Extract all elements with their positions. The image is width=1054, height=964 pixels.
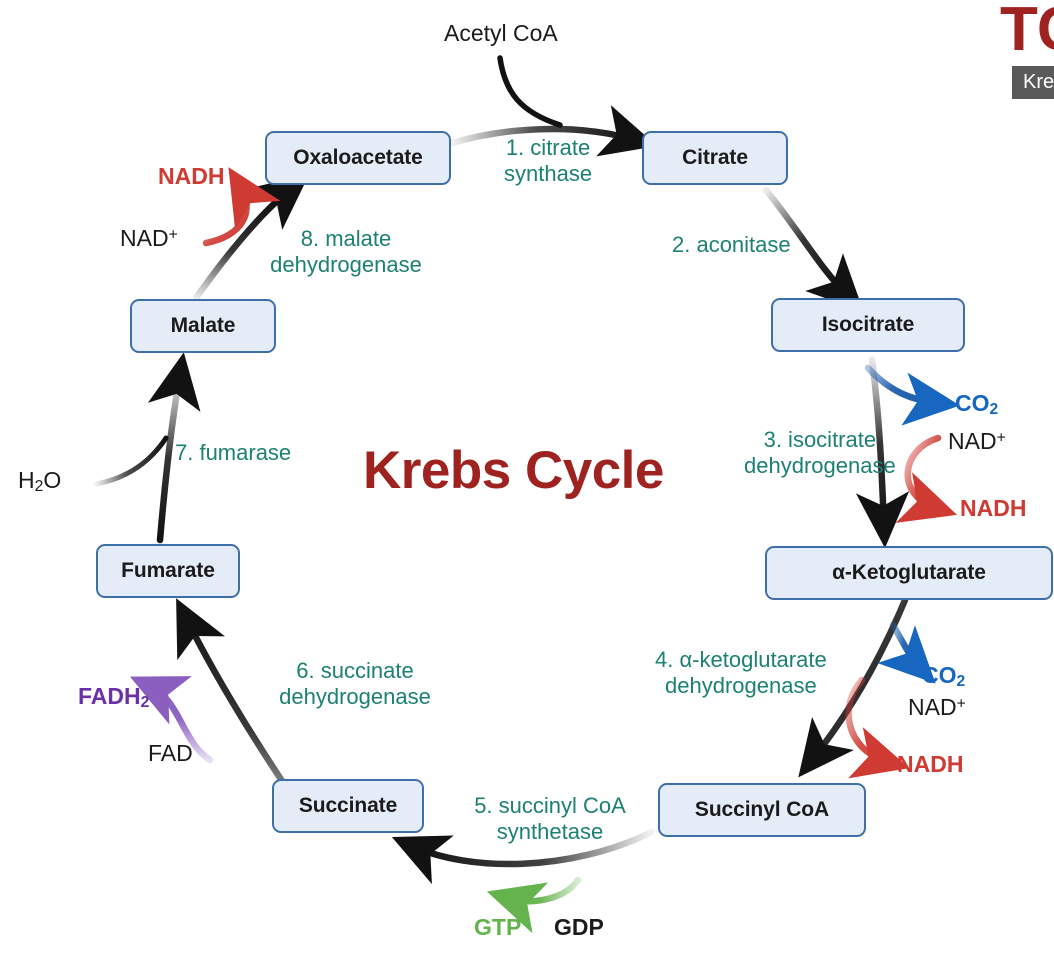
- enzyme-line-1: 3. isocitrate: [744, 427, 896, 453]
- cofactor-gdp: GDP: [554, 914, 604, 941]
- cofactor-co2-step4: CO2: [922, 662, 965, 692]
- enzyme-label-4: 4. α-ketoglutarate dehydrogenase: [655, 647, 827, 699]
- enzyme-line-2: dehydrogenase: [744, 453, 896, 479]
- enzyme-line-1: 2. aconitase: [672, 232, 791, 258]
- cofactor-fad: FAD: [148, 740, 193, 767]
- metabolite-alpha-ketoglutarate[interactable]: α-Ketoglutarate: [765, 546, 1053, 600]
- enzyme-label-7: 7. fumarase: [175, 440, 291, 466]
- enzyme-line-1: 5. succinyl CoA: [462, 793, 638, 819]
- metabolite-citrate[interactable]: Citrate: [642, 131, 788, 185]
- enzyme-label-1: 1. citrate synthase: [504, 135, 592, 187]
- metabolite-isocitrate[interactable]: Isocitrate: [771, 298, 965, 352]
- cofactor-nadh-step4: NADH: [897, 751, 963, 778]
- enzyme-line-2: dehydrogenase: [256, 252, 436, 278]
- cofactor-nadh-step8: NADH: [158, 163, 224, 190]
- metabolite-oxaloacetate[interactable]: Oxaloacetate: [265, 131, 451, 185]
- enzyme-line-1: 6. succinate: [262, 658, 448, 684]
- enzyme-label-2: 2. aconitase: [672, 232, 791, 258]
- enzyme-line-2: synthetase: [462, 819, 638, 845]
- enzyme-line-1: 4. α-ketoglutarate: [655, 647, 827, 673]
- corner-title-fragment: TC: [1000, 0, 1054, 65]
- metabolite-label: Succinate: [299, 794, 397, 818]
- cofactor-nad-plus-step4: NAD+: [908, 694, 966, 721]
- enzyme-label-8: 8. malate dehydrogenase: [256, 226, 436, 278]
- metabolite-fumarate[interactable]: Fumarate: [96, 544, 240, 598]
- metabolite-label: Fumarate: [121, 559, 215, 583]
- cofactor-water: H2O: [18, 467, 61, 497]
- enzyme-label-3: 3. isocitrate dehydrogenase: [744, 427, 896, 479]
- enzyme-label-6: 6. succinate dehydrogenase: [262, 658, 448, 710]
- metabolite-label: Oxaloacetate: [293, 146, 423, 170]
- enzyme-line-2: synthase: [504, 161, 592, 187]
- enzyme-line-1: 1. citrate: [504, 135, 592, 161]
- enzyme-line-1: 8. malate: [256, 226, 436, 252]
- krebs-cycle-diagram: Oxaloacetate Citrate Isocitrate α-Ketogl…: [0, 0, 1054, 964]
- cofactor-nad-plus-step8: NAD+: [120, 225, 178, 252]
- cofactor-gtp: GTP: [474, 914, 521, 941]
- metabolite-label: Citrate: [682, 146, 748, 170]
- metabolite-label: Succinyl CoA: [695, 798, 829, 822]
- input-acetyl-coa-label: Acetyl CoA: [444, 20, 558, 47]
- metabolite-label: α-Ketoglutarate: [832, 561, 986, 585]
- enzyme-line-2: dehydrogenase: [262, 684, 448, 710]
- tooltip-label: Krebs: [1012, 66, 1054, 99]
- metabolite-label: Isocitrate: [822, 313, 914, 337]
- cofactor-co2-step3: CO2: [955, 390, 998, 420]
- enzyme-line-2: dehydrogenase: [655, 673, 827, 699]
- cofactor-nad-plus-step3: NAD+: [948, 428, 1006, 455]
- cofactor-fadh2: FADH2: [78, 683, 149, 713]
- enzyme-line-1: 7. fumarase: [175, 440, 291, 466]
- enzyme-label-5: 5. succinyl CoA synthetase: [462, 793, 638, 845]
- center-title: Krebs Cycle: [363, 440, 664, 501]
- metabolite-malate[interactable]: Malate: [130, 299, 276, 353]
- metabolite-succinate[interactable]: Succinate: [272, 779, 424, 833]
- metabolite-succinyl-coa[interactable]: Succinyl CoA: [658, 783, 866, 837]
- cofactor-nadh-step3: NADH: [960, 495, 1026, 522]
- metabolite-label: Malate: [171, 314, 236, 338]
